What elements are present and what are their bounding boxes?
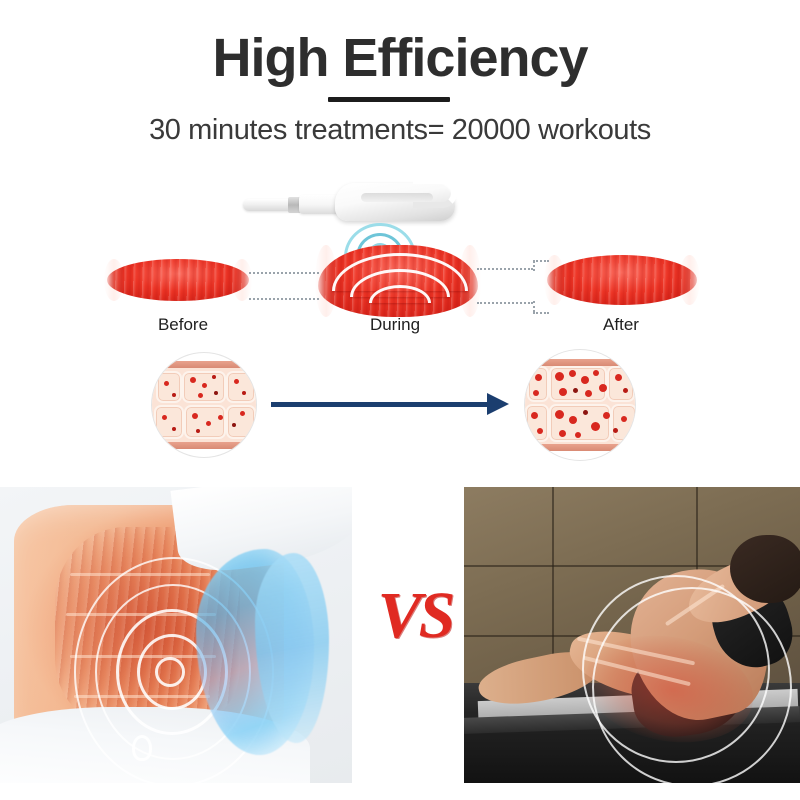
cell-nucleus (559, 388, 567, 396)
head (730, 535, 800, 603)
muscle-fiber (527, 366, 549, 402)
progression-arrow-head (487, 393, 509, 415)
cell-nucleus (555, 410, 564, 419)
cell-nucleus (591, 422, 600, 431)
cell-nucleus (623, 388, 628, 393)
cell-nucleus (585, 390, 592, 397)
cell-nucleus (569, 416, 577, 424)
cell-nucleus (198, 393, 203, 398)
cell-nucleus (537, 428, 543, 434)
focus-ring-inner (592, 587, 792, 783)
cell-nucleus (593, 370, 599, 376)
cell-nucleus (531, 412, 538, 419)
muscle-stage-row (0, 243, 800, 323)
cell-nucleus (575, 432, 581, 438)
stage-label-after: After (566, 315, 676, 335)
cell-nucleus (190, 377, 196, 383)
cell-nucleus (172, 427, 176, 431)
cell-nucleus (559, 430, 566, 437)
muscle-during (318, 245, 478, 317)
waistband-button (132, 735, 152, 761)
cell-nucleus (164, 381, 169, 386)
cell-nucleus (162, 415, 167, 420)
growth-step-top-arm (533, 260, 549, 262)
growth-step-bottom-arm (533, 312, 549, 314)
connector-right-bottom (477, 302, 533, 304)
cell-nucleus (573, 388, 578, 393)
cell-nucleus (202, 383, 207, 388)
growth-step-bottom (533, 301, 535, 312)
cell-nucleus (533, 390, 539, 396)
muscle-fiber (607, 366, 635, 402)
treatment-diagram: Before During After (0, 165, 800, 480)
energy-ring-1 (155, 657, 185, 687)
cell-nucleus (196, 429, 200, 433)
cell-nucleus (535, 374, 542, 381)
progression-arrow-line (271, 402, 492, 407)
muscle-fiber (525, 404, 549, 442)
muscle-fiber (154, 405, 184, 439)
header-section: High Efficiency 30 minutes treatments= 2… (0, 0, 800, 170)
manual-workout-photo (464, 487, 800, 783)
cell-nucleus (615, 374, 622, 381)
muscle-cells-after (525, 350, 635, 460)
cell-membrane-top (152, 361, 256, 368)
cell-nucleus (621, 416, 627, 422)
cell-nucleus (206, 421, 211, 426)
stage-label-during: During (340, 315, 450, 335)
handpiece-applicator-icon (243, 175, 458, 230)
muscle-cells-before (152, 353, 256, 457)
cell-nucleus (555, 372, 564, 381)
handpiece-hook (413, 178, 457, 208)
cell-nucleus (240, 411, 245, 416)
poster-root: High Efficiency 30 minutes treatments= 2… (0, 0, 800, 800)
page-subtitle: 30 minutes treatments= 20000 workouts (0, 114, 800, 147)
cell-nucleus (234, 379, 239, 384)
muscle-fiber (611, 404, 635, 442)
muscle-fiber (184, 405, 226, 439)
cell-nucleus (599, 384, 607, 392)
cell-nucleus (192, 413, 198, 419)
ems-treatment-photo (0, 487, 352, 783)
cell-nucleus (172, 393, 176, 397)
cell-nucleus (603, 412, 610, 419)
cell-membrane-bottom (525, 444, 635, 451)
muscle-fiber (156, 371, 182, 403)
growth-step-top (533, 261, 535, 271)
muscle-fiber (226, 371, 256, 403)
cell-nucleus (581, 376, 589, 384)
muscle-before (107, 259, 249, 301)
connector-right-top (477, 268, 533, 270)
cell-nucleus (214, 391, 218, 395)
versus-badge: VS (365, 578, 465, 654)
title-underline (328, 97, 450, 102)
cell-nucleus (232, 423, 236, 427)
cell-nucleus (613, 428, 618, 433)
cell-membrane-bottom (152, 442, 256, 449)
cell-nucleus (583, 410, 588, 415)
stage-label-before: Before (128, 315, 238, 335)
cell-nucleus (218, 415, 223, 420)
cell-nucleus (569, 370, 576, 377)
cell-nucleus (242, 391, 246, 395)
cell-nucleus (212, 375, 216, 379)
cell-membrane-top (525, 359, 635, 366)
page-title: High Efficiency (0, 30, 800, 87)
connector-left-bottom (249, 298, 319, 300)
connector-left-top (249, 272, 319, 274)
muscle-after (547, 255, 697, 305)
